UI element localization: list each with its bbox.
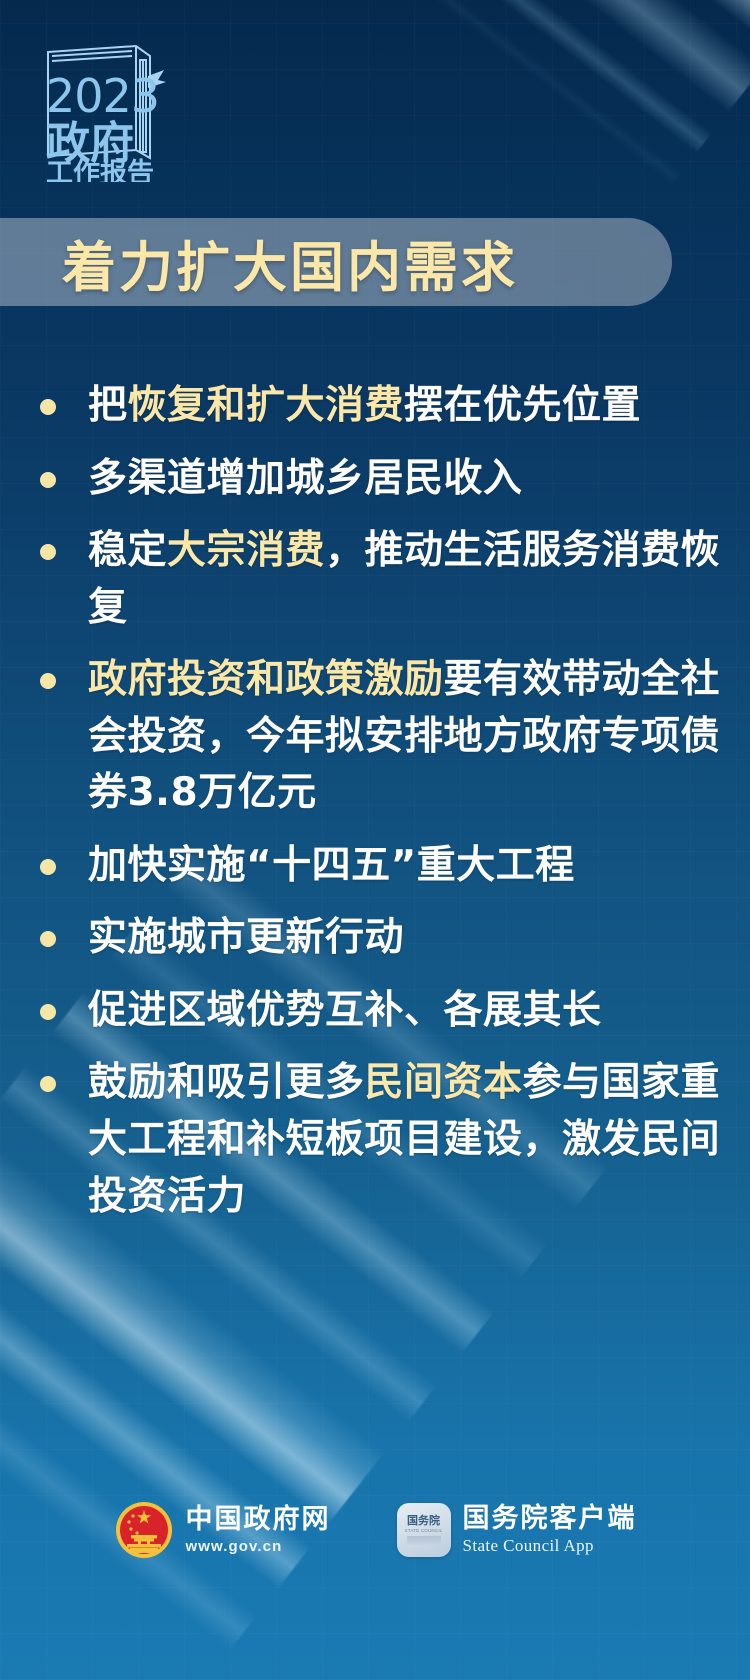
bullet-list: 把恢复和扩大消费摆在优先位置多渠道增加城乡居民收入稳定大宗消费，推动生活服务消费…	[0, 378, 750, 1241]
book-icon: 2023 政府 工作报告	[40, 42, 220, 182]
masthead-logo: 2023 政府 工作报告	[40, 42, 220, 182]
title-banner: 着力扩大国内需求	[0, 218, 672, 306]
plain-phrase: 摆在优先位置	[404, 383, 641, 428]
list-item: 把恢复和扩大消费摆在优先位置	[0, 378, 750, 435]
list-item-text: 稳定大宗消费，推动生活服务消费恢复	[88, 523, 730, 636]
highlighted-phrase: 大宗消费	[167, 528, 325, 573]
list-item: 政府投资和政策激励要有效带动全社会投资，今年拟安排地方政府专项债券3.8万亿元	[0, 652, 750, 822]
bullet-dot-icon	[40, 1004, 56, 1020]
app-icon-label-en: STATE COUNCIL	[405, 1528, 443, 1533]
poster-root: 2023 政府 工作报告 着力扩大国内需求 把恢复和扩大消费摆在优先位置多渠道增…	[0, 0, 750, 1680]
plain-phrase: 多渠道增加城乡居民收入	[88, 456, 523, 501]
list-item-text: 把恢复和扩大消费摆在优先位置	[88, 378, 730, 435]
list-item-text: 加快实施“十四五”重大工程	[88, 838, 730, 895]
light-streaks-top	[230, 0, 750, 185]
brand-name-en: State Council App	[463, 1536, 637, 1556]
app-icon-label-cn: 国务院	[407, 1515, 440, 1526]
bullet-dot-icon	[40, 673, 56, 689]
bullet-dot-icon	[40, 859, 56, 875]
plain-phrase: 实施城市更新行动	[88, 915, 404, 960]
brand-name-cn: 中国政府网	[186, 1505, 331, 1535]
app-icon-building-glyph	[407, 1536, 441, 1545]
bullet-dot-icon	[40, 544, 56, 560]
bullet-dot-icon	[40, 1076, 56, 1092]
brand-state-council-app[interactable]: 国务院 STATE COUNCIL 国务院客户端 State Council A…	[397, 1503, 637, 1557]
plain-phrase: 把	[88, 383, 128, 428]
brand-name-cn: 国务院客户端	[463, 1504, 637, 1534]
brand-words: 中国政府网 www.gov.cn	[186, 1505, 331, 1554]
china-national-emblem-icon	[114, 1500, 174, 1560]
list-item: 加快实施“十四五”重大工程	[0, 838, 750, 895]
plain-phrase: 加快实施“十四五”重大工程	[88, 843, 575, 888]
plain-phrase: 促进区域优势互补、各展其长	[88, 988, 602, 1033]
list-item-text: 多渠道增加城乡居民收入	[88, 451, 730, 508]
svg-text:工作报告: 工作报告	[46, 158, 154, 182]
list-item-text: 政府投资和政策激励要有效带动全社会投资，今年拟安排地方政府专项债券3.8万亿元	[88, 652, 730, 822]
footer-brands: 中国政府网 www.gov.cn 国务院 STATE COUNCIL 国务院客户…	[0, 1484, 750, 1576]
bullet-dot-icon	[40, 472, 56, 488]
plain-phrase: 稳定	[88, 528, 167, 573]
state-council-app-icon: 国务院 STATE COUNCIL	[397, 1503, 451, 1557]
highlighted-phrase: 政府投资和政策激励	[88, 657, 444, 702]
brand-words: 国务院客户端 State Council App	[463, 1504, 637, 1556]
list-item-text: 实施城市更新行动	[88, 910, 730, 967]
list-item-text: 促进区域优势互补、各展其长	[88, 983, 730, 1040]
highlighted-phrase: 恢复和扩大消费	[128, 383, 405, 428]
plain-phrase: 鼓励和吸引更多	[88, 1060, 365, 1105]
page-title: 着力扩大国内需求	[62, 223, 518, 302]
highlighted-phrase: 民间资本	[365, 1060, 523, 1105]
list-item: 鼓励和吸引更多民间资本参与国家重大工程和补短板项目建设，激发民间投资活力	[0, 1055, 750, 1225]
list-item-text: 鼓励和吸引更多民间资本参与国家重大工程和补短板项目建设，激发民间投资活力	[88, 1055, 730, 1225]
list-item: 多渠道增加城乡居民收入	[0, 451, 750, 508]
bullet-dot-icon	[40, 931, 56, 947]
list-item: 稳定大宗消费，推动生活服务消费恢复	[0, 523, 750, 636]
list-item: 实施城市更新行动	[0, 910, 750, 967]
brand-china-gov[interactable]: 中国政府网 www.gov.cn	[114, 1500, 331, 1560]
brand-name-en: www.gov.cn	[186, 1538, 331, 1555]
list-item: 促进区域优势互补、各展其长	[0, 983, 750, 1040]
bullet-dot-icon	[40, 399, 56, 415]
svg-text:2023: 2023	[46, 69, 159, 123]
